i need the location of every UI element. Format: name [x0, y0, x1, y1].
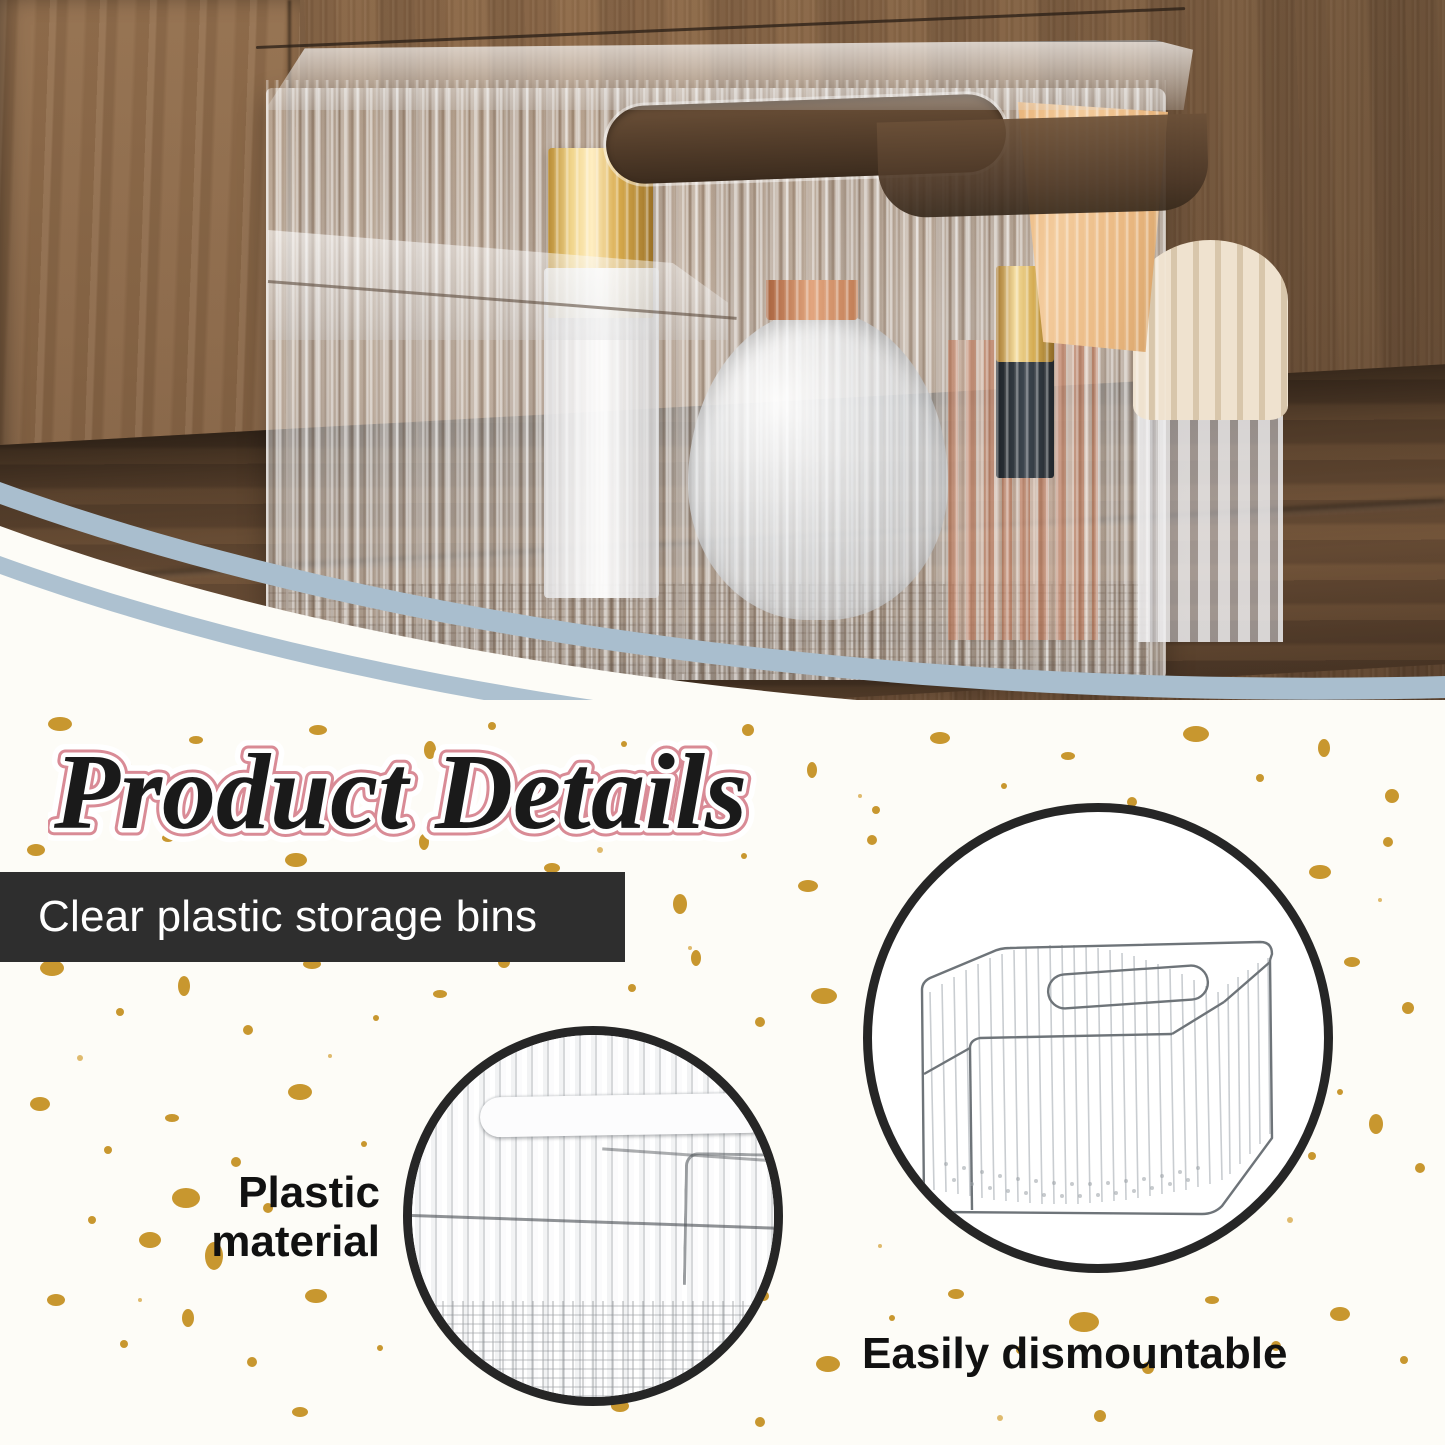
detail-circle-easily-dismountable: [863, 803, 1333, 1273]
macro-perforated-base: [412, 1301, 783, 1397]
page-title-text: Product Details: [53, 733, 747, 852]
bin-art-handle-cutout: [1047, 964, 1209, 1009]
page-title: Product Details Product Details Product …: [48, 728, 808, 860]
subtitle-banner-text: Clear plastic storage bins: [0, 892, 537, 942]
macro-corner-edge: [683, 1152, 783, 1287]
lipstick-body: [996, 358, 1054, 478]
label-plastic-material-line1: Plastic: [140, 1168, 380, 1217]
perfume-cap-rose-gold-band: [766, 280, 858, 320]
label-plastic-material: Plastic material: [140, 1168, 380, 1267]
label-easily-dismountable: Easily dismountable: [862, 1330, 1362, 1378]
storage-bin-line-art: [872, 812, 1324, 1264]
detail-circle-plastic-material: [403, 1026, 783, 1406]
makeup-brush-bristles: [1133, 240, 1288, 420]
macro-handle-slot: [480, 1092, 771, 1137]
bin-top-rim: [248, 40, 1193, 110]
infographic-canvas: Product Details Product Details Product …: [0, 0, 1445, 1445]
subtitle-banner: Clear plastic storage bins: [0, 872, 625, 962]
product-photo: [0, 0, 1445, 745]
bin-handle-cutout-secondary: [877, 113, 1210, 218]
label-plastic-material-line2: material: [140, 1217, 380, 1266]
bin-art-front-ribs: [930, 945, 1222, 1204]
storage-bin: [248, 40, 1193, 680]
bin-art-side-ribs: [1228, 958, 1270, 1174]
